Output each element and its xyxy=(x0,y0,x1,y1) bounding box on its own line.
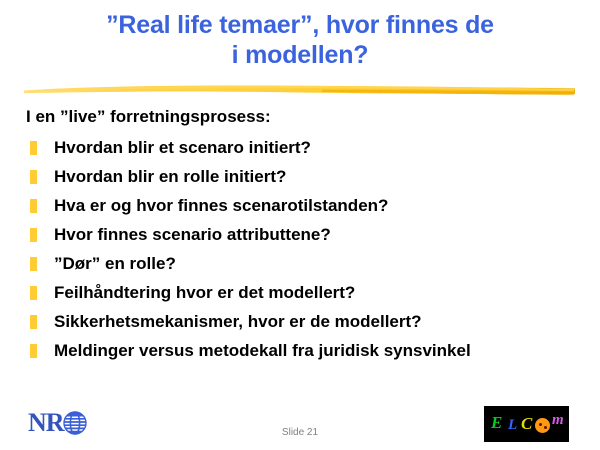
intro-line: I en ”live” forretningsprosess: xyxy=(26,104,586,129)
elcom-letter-o xyxy=(535,418,550,433)
bullet-list: Hvordan blir et scenaro initiert? Hvorda… xyxy=(26,133,586,365)
list-item: Hvordan blir en rolle initiert? xyxy=(26,162,586,191)
page-title: ”Real life temaer”, hvor finnes de i mod… xyxy=(0,10,600,70)
bullet-marker-icon xyxy=(30,141,37,155)
slide-canvas: ”Real life temaer”, hvor finnes de i mod… xyxy=(0,0,600,450)
elcom-letter-e: E xyxy=(491,414,502,431)
bullet-marker-icon xyxy=(30,286,37,300)
list-item-label: Hvor finnes scenario attributtene? xyxy=(54,225,331,245)
list-item-label: Sikkerhetsmekanismer, hvor er de modelle… xyxy=(54,312,422,332)
title-line-2: i modellen? xyxy=(0,40,600,70)
content-body: I en ”live” forretningsprosess: Hvordan … xyxy=(26,104,586,365)
elcom-letter-m: m xyxy=(552,413,564,428)
bullet-marker-icon xyxy=(30,257,37,271)
list-item: Meldinger versus metodekall fra juridisk… xyxy=(26,336,586,365)
list-item: Feilhåndtering hvor er det modellert? xyxy=(26,278,586,307)
list-item: ”Dør” en rolle? xyxy=(26,249,586,278)
list-item: Hvordan blir et scenaro initiert? xyxy=(26,133,586,162)
list-item: Hvor finnes scenario attributtene? xyxy=(26,220,586,249)
bullet-marker-icon xyxy=(30,228,37,242)
elcom-letter-l: L xyxy=(508,418,517,433)
list-item-label: Feilhåndtering hvor er det modellert? xyxy=(54,283,355,303)
bullet-marker-icon xyxy=(30,199,37,213)
bullet-marker-icon xyxy=(30,170,37,184)
elcom-logo: E L C m xyxy=(484,406,569,442)
title-line-1: ”Real life temaer”, hvor finnes de xyxy=(0,10,600,40)
bullet-marker-icon xyxy=(30,344,37,358)
bullet-marker-icon xyxy=(30,315,37,329)
elcom-letter-c: C xyxy=(521,415,532,432)
list-item-label: Hva er og hvor finnes scenarotilstanden? xyxy=(54,196,388,216)
list-item: Hva er og hvor finnes scenarotilstanden? xyxy=(26,191,586,220)
list-item-label: Hvordan blir et scenaro initiert? xyxy=(54,138,311,158)
brush-underline-decoration xyxy=(22,80,578,98)
list-item-label: Meldinger versus metodekall fra juridisk… xyxy=(54,341,471,361)
list-item-label: ”Dør” en rolle? xyxy=(54,254,176,274)
list-item: Sikkerhetsmekanismer, hvor er de modelle… xyxy=(26,307,586,336)
list-item-label: Hvordan blir en rolle initiert? xyxy=(54,167,286,187)
